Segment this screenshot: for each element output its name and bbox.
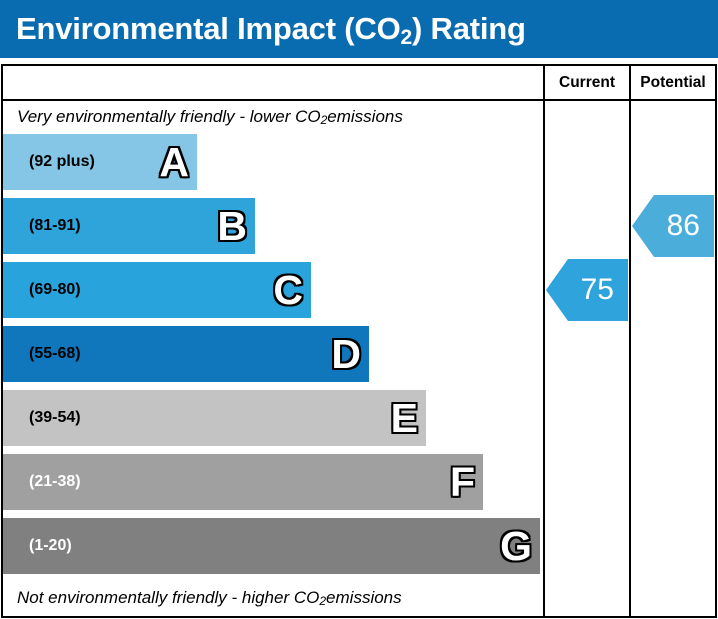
caption-bottom-suffix: emissions bbox=[326, 588, 402, 608]
band-range-label: (21-38) bbox=[29, 473, 81, 491]
rating-band-d: (55-68)D bbox=[3, 326, 369, 382]
band-letter-c: C bbox=[273, 270, 303, 311]
rating-band-e: (39-54)E bbox=[3, 390, 426, 446]
caption-top: Very environmentally friendly - lower CO… bbox=[3, 101, 543, 133]
page-title: Environmental Impact (CO2) Rating bbox=[16, 11, 526, 47]
caption-bottom-prefix: Not environmentally friendly - higher CO bbox=[17, 588, 319, 608]
caption-top-subscript: 2 bbox=[321, 113, 328, 127]
current-rating-marker: 75 bbox=[546, 259, 628, 321]
rating-band-c: (69-80)C bbox=[3, 262, 311, 318]
band-letter-f: F bbox=[450, 462, 475, 503]
title-suffix: ) Rating bbox=[412, 11, 526, 46]
band-range-label: (92 plus) bbox=[29, 153, 95, 171]
caption-top-suffix: emissions bbox=[327, 107, 403, 127]
potential-rating-marker: 86 bbox=[632, 195, 714, 257]
band-letter-d: D bbox=[331, 334, 361, 375]
band-range-label: (39-54) bbox=[29, 409, 81, 427]
rating-band-b: (81-91)B bbox=[3, 198, 255, 254]
band-letter-a: A bbox=[159, 142, 189, 183]
band-range-label: (81-91) bbox=[29, 217, 81, 235]
band-letter-g: G bbox=[500, 526, 532, 567]
column-header-potential: Potential bbox=[631, 66, 715, 99]
rating-band-g: (1-20)G bbox=[3, 518, 540, 574]
band-letter-b: B bbox=[217, 206, 247, 247]
caption-bottom: Not environmentally friendly - higher CO… bbox=[3, 582, 543, 614]
caption-top-prefix: Very environmentally friendly - lower CO bbox=[17, 107, 321, 127]
title-subscript: 2 bbox=[401, 26, 412, 49]
caption-bottom-subscript: 2 bbox=[319, 594, 326, 608]
epc-environmental-impact-chart: Environmental Impact (CO2) Rating Curren… bbox=[0, 0, 718, 619]
column-divider-potential bbox=[629, 66, 631, 616]
rating-table: Current Potential Very environmentally f… bbox=[1, 64, 717, 618]
rating-band-f: (21-38)F bbox=[3, 454, 483, 510]
band-range-label: (1-20) bbox=[29, 537, 72, 555]
title-prefix: Environmental Impact (CO bbox=[16, 11, 401, 46]
chart-title-bar: Environmental Impact (CO2) Rating bbox=[0, 0, 718, 58]
band-range-label: (55-68) bbox=[29, 345, 81, 363]
column-divider-current bbox=[543, 66, 545, 616]
band-range-label: (69-80) bbox=[29, 281, 81, 299]
band-letter-e: E bbox=[391, 398, 418, 439]
rating-bands: (92 plus)A(81-91)B(69-80)C(55-68)D(39-54… bbox=[3, 134, 543, 582]
column-header-current: Current bbox=[545, 66, 629, 99]
rating-band-a: (92 plus)A bbox=[3, 134, 197, 190]
